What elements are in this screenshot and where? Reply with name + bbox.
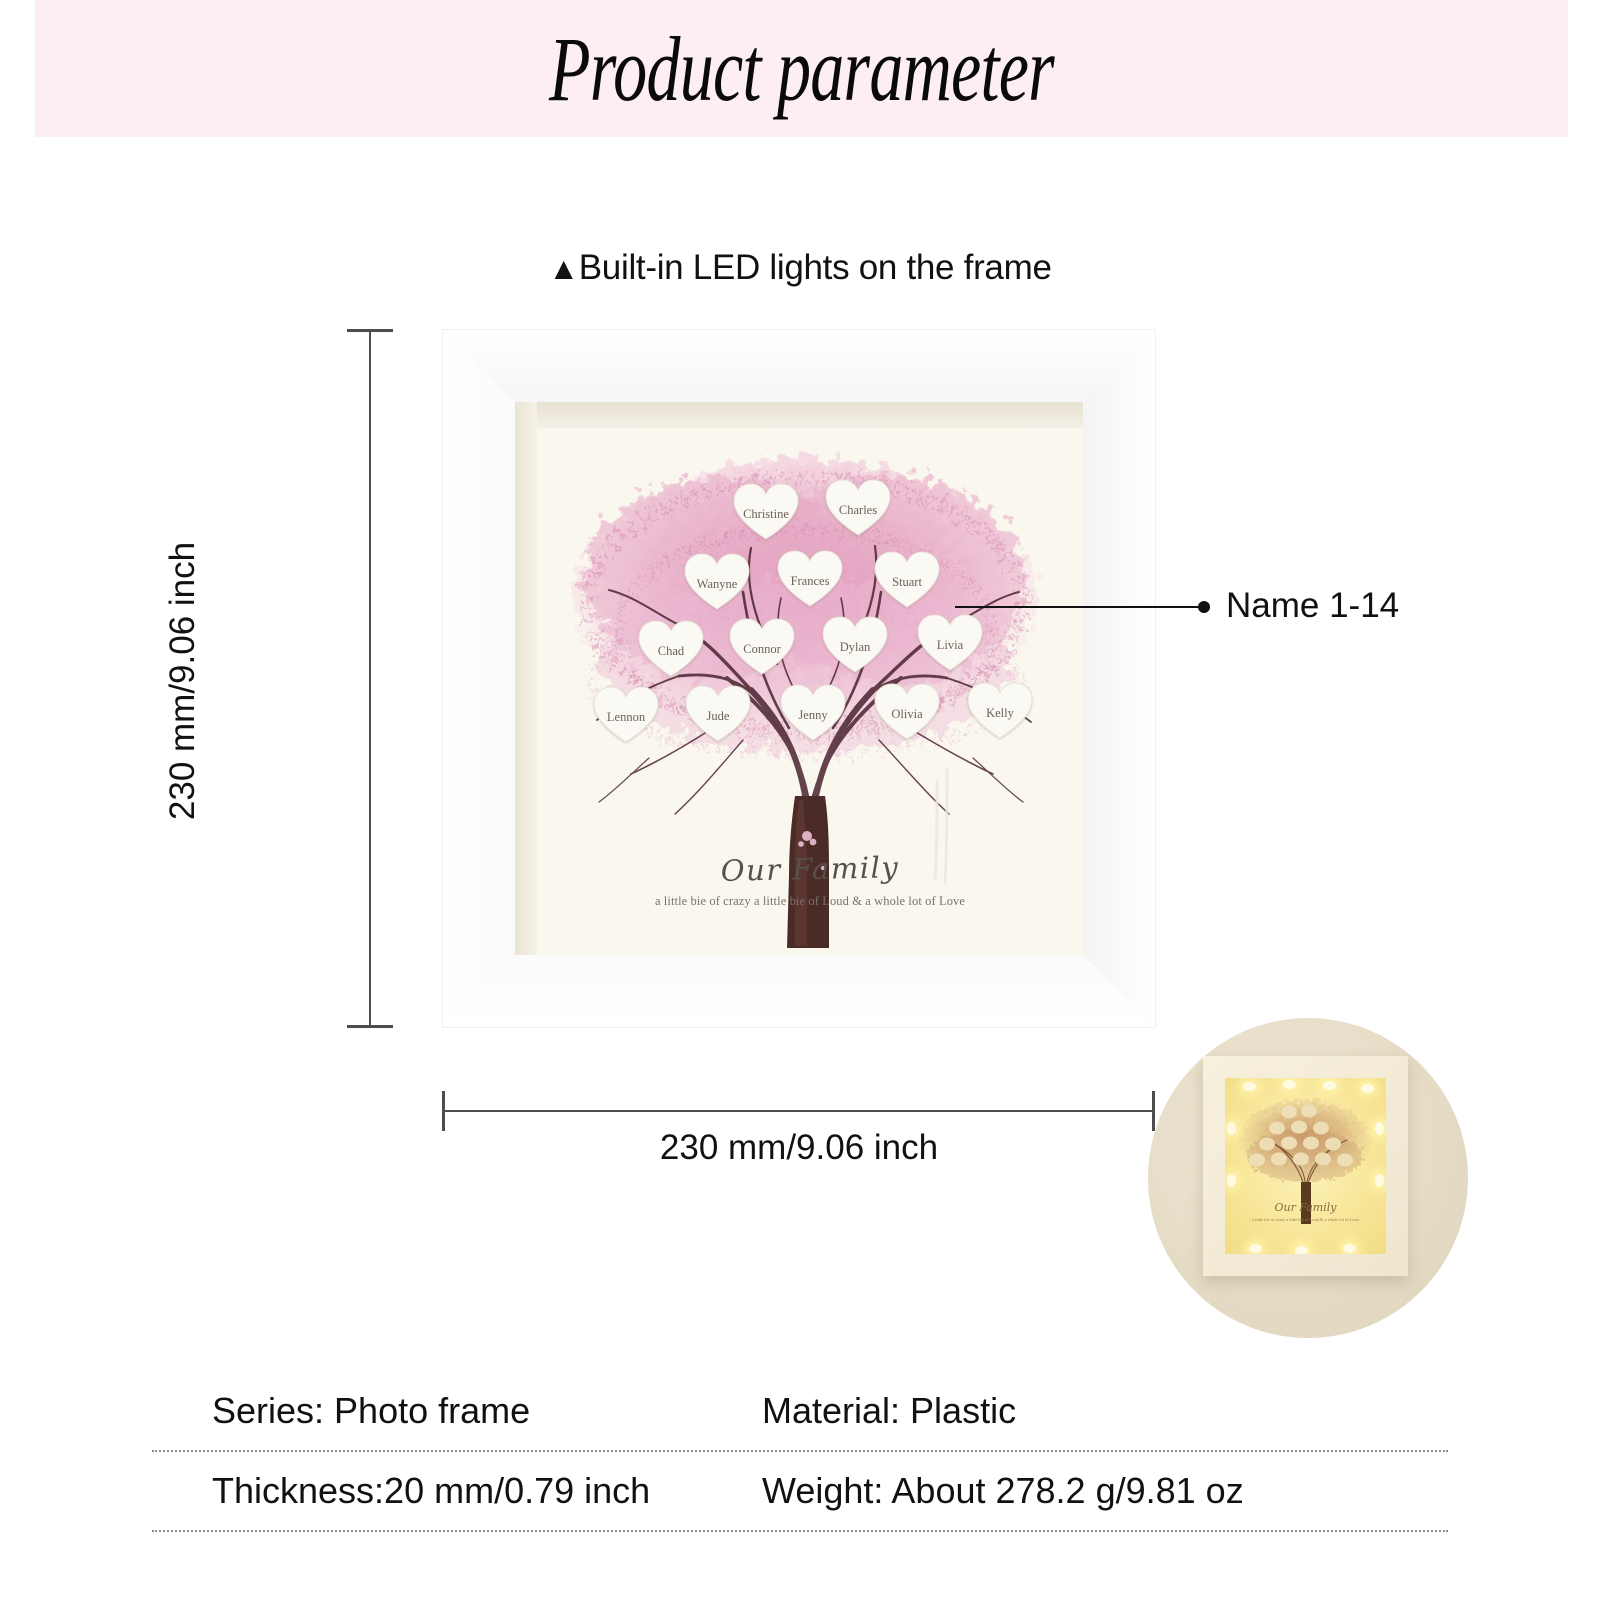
heart-name-label: Connor xyxy=(729,618,795,676)
frame-bevel-right xyxy=(1083,330,1155,1027)
family-tagline: a little bie of crazy a little bie of Lo… xyxy=(537,894,1083,909)
height-dimension-label: 230 mm/9.06 inch xyxy=(163,471,203,891)
led-caption: ▲Built-in LED lights on the frame xyxy=(0,248,1600,288)
triangle-marker-icon: ▲ xyxy=(548,251,578,286)
height-dimension-cap-top xyxy=(347,329,393,332)
led-light-dot xyxy=(1249,1244,1262,1253)
led-frame-interior: Our Family a little bie of crazy a littl… xyxy=(1225,1078,1386,1254)
frame-bevel-bottom xyxy=(443,955,1155,1027)
heart-name-label: Chad xyxy=(638,620,704,678)
artwork-surface: Christine Charles Wanyne Frances Stuart xyxy=(537,428,1083,955)
spec-material: Material: Plastic xyxy=(752,1390,1448,1432)
heart-name-label: Kelly xyxy=(967,682,1033,740)
heart-name-label: Jenny xyxy=(780,684,846,742)
width-dimension-cap-left xyxy=(442,1091,445,1131)
led-light-dot xyxy=(1227,1174,1236,1187)
name-heart[interactable]: Christine xyxy=(733,483,799,541)
spec-table: Series: Photo frame Material: Plastic Th… xyxy=(152,1372,1448,1532)
led-lit-inset-photo: Our Family a little bie of crazy a littl… xyxy=(1148,1018,1468,1338)
height-dimension-cap-bottom xyxy=(347,1025,393,1028)
led-caption-text: Built-in LED lights on the frame xyxy=(579,248,1052,287)
heart-name-label: Frances xyxy=(777,550,843,608)
led-frame-outer: Our Family a little bie of crazy a littl… xyxy=(1203,1056,1408,1276)
shadowbox-interior: Christine Charles Wanyne Frances Stuart xyxy=(515,402,1083,955)
name-heart[interactable]: Stuart xyxy=(874,551,940,609)
heart-name-label: Dylan xyxy=(822,616,888,674)
height-dimension-line xyxy=(369,330,371,1027)
led-our-family-text: Our Family xyxy=(1225,1201,1386,1214)
spec-thickness: Thickness:20 mm/0.79 inch xyxy=(152,1470,752,1512)
width-dimension-label: 230 mm/9.06 inch xyxy=(443,1128,1155,1168)
photo-frame: Christine Charles Wanyne Frances Stuart xyxy=(443,330,1155,1027)
led-tree-icon xyxy=(1225,1078,1386,1254)
page-title: Product parameter xyxy=(234,0,1368,137)
name-heart[interactable]: Dylan xyxy=(822,616,888,674)
frame-bevel-top xyxy=(443,330,1155,402)
led-light-dot xyxy=(1243,1082,1256,1091)
shadowbox-wall-left xyxy=(515,402,537,955)
led-light-dot xyxy=(1323,1081,1336,1090)
name-heart[interactable]: Kelly xyxy=(967,682,1033,740)
led-light-dot xyxy=(1375,1122,1384,1135)
name-heart[interactable]: Jude xyxy=(685,685,751,743)
name-heart[interactable]: Chad xyxy=(638,620,704,678)
led-light-dot xyxy=(1375,1174,1384,1187)
name-heart[interactable]: Livia xyxy=(917,614,983,672)
width-dimension-line xyxy=(443,1110,1155,1112)
led-light-dot xyxy=(1343,1244,1356,1253)
name-heart[interactable]: Connor xyxy=(729,618,795,676)
name-heart[interactable]: Frances xyxy=(777,550,843,608)
heart-name-label: Lennon xyxy=(593,686,659,744)
callout-label: Name 1-14 xyxy=(1226,586,1399,626)
heart-name-label: Jude xyxy=(685,685,751,743)
led-light-dot xyxy=(1283,1080,1296,1089)
name-heart[interactable]: Lennon xyxy=(593,686,659,744)
name-heart[interactable]: Charles xyxy=(825,479,891,537)
header-band: Product parameter xyxy=(35,0,1568,137)
led-light-dot xyxy=(1295,1246,1308,1254)
callout-leader-line xyxy=(955,606,1205,608)
led-tagline-text: a little bie of crazy a little bie of Lo… xyxy=(1225,1217,1386,1222)
spec-row: Series: Photo frame Material: Plastic xyxy=(152,1372,1448,1452)
spec-row: Thickness:20 mm/0.79 inch Weight: About … xyxy=(152,1452,1448,1532)
led-light-dot xyxy=(1361,1084,1374,1093)
heart-name-label: Stuart xyxy=(874,551,940,609)
spec-weight: Weight: About 278.2 g/9.81 oz xyxy=(752,1470,1448,1512)
callout-dot-icon xyxy=(1198,601,1210,613)
heart-name-label: Wanyne xyxy=(684,553,750,611)
name-heart[interactable]: Wanyne xyxy=(684,553,750,611)
name-heart[interactable]: Jenny xyxy=(780,684,846,742)
width-dimension-cap-right xyxy=(1152,1091,1155,1131)
heart-name-label: Olivia xyxy=(874,683,940,741)
heart-name-label: Charles xyxy=(825,479,891,537)
heart-name-label: Christine xyxy=(733,483,799,541)
name-heart[interactable]: Olivia xyxy=(874,683,940,741)
led-light-dot xyxy=(1227,1122,1236,1135)
family-tree-artwork: Christine Charles Wanyne Frances Stuart xyxy=(537,428,1083,955)
heart-name-label: Livia xyxy=(917,614,983,672)
shadowbox-wall-top xyxy=(515,402,1083,428)
frame-bevel-left xyxy=(443,330,515,1027)
spec-series: Series: Photo frame xyxy=(152,1390,752,1432)
